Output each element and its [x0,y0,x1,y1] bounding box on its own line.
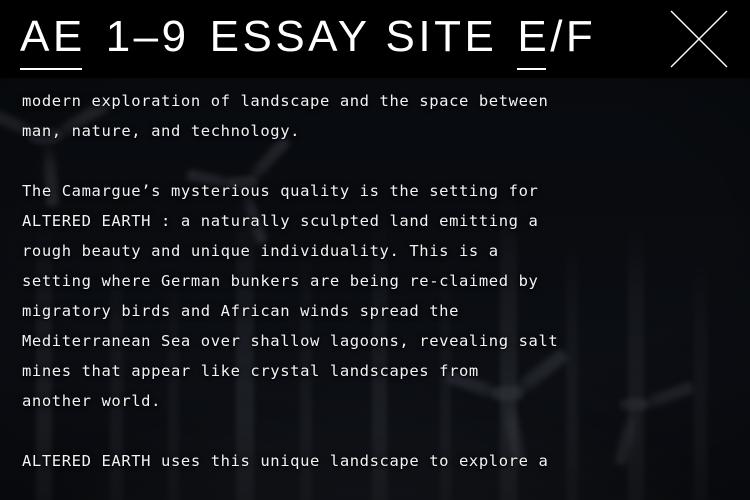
language-option-french[interactable]: F [566,12,596,61]
close-x-icon[interactable] [670,10,728,68]
article-paragraph: The Camargue’s mysterious quality is the… [0,176,750,416]
article-paragraph: modern exploration of landscape and the … [0,78,750,146]
header-title: AE 1–9 ESSAY SITE E/F [20,15,596,59]
site-header: AE 1–9 ESSAY SITE E/F [0,0,750,78]
language-separator: / [550,12,566,61]
issue-number: 1–9 [106,15,190,59]
article-paragraph: ALTERED EARTH uses this unique landscape… [0,446,750,476]
language-option-english[interactable]: E [517,15,550,59]
brand-abbreviation[interactable]: AE [20,15,86,59]
article-body: modern exploration of landscape and the … [0,78,750,500]
site-name: ESSAY SITE [210,15,498,59]
language-switcher: E/F [517,15,596,59]
essay-site-page: AE 1–9 ESSAY SITE E/F modern exploration… [0,0,750,500]
